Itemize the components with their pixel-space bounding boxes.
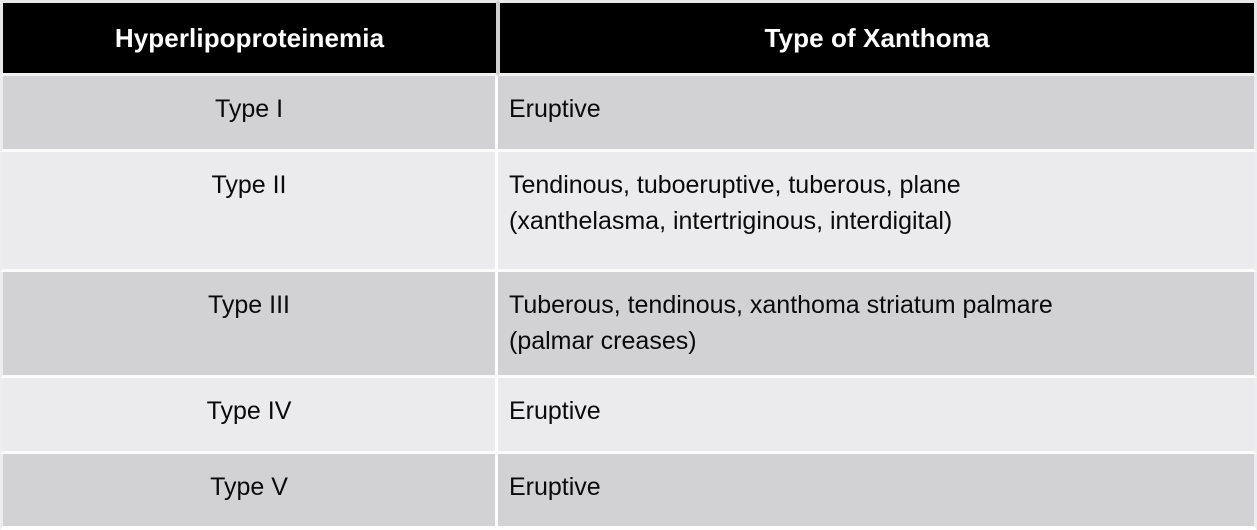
table-header: Hyperlipoproteinemia Type of Xanthoma	[0, 0, 1257, 76]
table-row: Type II Tendinous, tuboeruptive, tuberou…	[0, 152, 1257, 272]
cell-hyperlipoproteinemia-type: Type I	[0, 76, 498, 152]
column-header-hyperlipoproteinemia: Hyperlipoproteinemia	[0, 0, 498, 76]
cell-hyperlipoproteinemia-type: Type III	[0, 272, 498, 378]
table-row: Type I Eruptive	[0, 76, 1257, 152]
xanthoma-line-1: Tuberous, tendinous, xanthoma striatum p…	[509, 288, 1240, 324]
cell-xanthoma-description: Tuberous, tendinous, xanthoma striatum p…	[498, 272, 1257, 378]
xanthoma-line-2: (palmar creases)	[509, 324, 1240, 360]
column-header-type-of-xanthoma: Type of Xanthoma	[498, 0, 1257, 76]
table-body: Type I Eruptive Type II Tendinous, tuboe…	[0, 76, 1257, 530]
cell-hyperlipoproteinemia-type: Type II	[0, 152, 498, 272]
xanthoma-line-1: Tendinous, tuboeruptive, tuberous, plane	[509, 168, 1240, 204]
table-container: Hyperlipoproteinemia Type of Xanthoma Ty…	[0, 0, 1257, 518]
hyperlipoproteinemia-xanthoma-table: Hyperlipoproteinemia Type of Xanthoma Ty…	[0, 0, 1257, 530]
table-row: Type IV Eruptive	[0, 378, 1257, 454]
cell-xanthoma-description: Eruptive	[498, 76, 1257, 152]
cell-xanthoma-description: Eruptive	[498, 454, 1257, 530]
xanthoma-line-1: Eruptive	[509, 394, 1240, 430]
table-row: Type V Eruptive	[0, 454, 1257, 530]
xanthoma-line-1: Eruptive	[509, 470, 1240, 506]
cell-xanthoma-description: Eruptive	[498, 378, 1257, 454]
table-row: Type III Tuberous, tendinous, xanthoma s…	[0, 272, 1257, 378]
cell-xanthoma-description: Tendinous, tuboeruptive, tuberous, plane…	[498, 152, 1257, 272]
header-row: Hyperlipoproteinemia Type of Xanthoma	[0, 0, 1257, 76]
xanthoma-line-2: (xanthelasma, intertriginous, interdigit…	[509, 204, 1240, 240]
cell-hyperlipoproteinemia-type: Type V	[0, 454, 498, 530]
cell-hyperlipoproteinemia-type: Type IV	[0, 378, 498, 454]
xanthoma-line-1: Eruptive	[509, 92, 1240, 128]
